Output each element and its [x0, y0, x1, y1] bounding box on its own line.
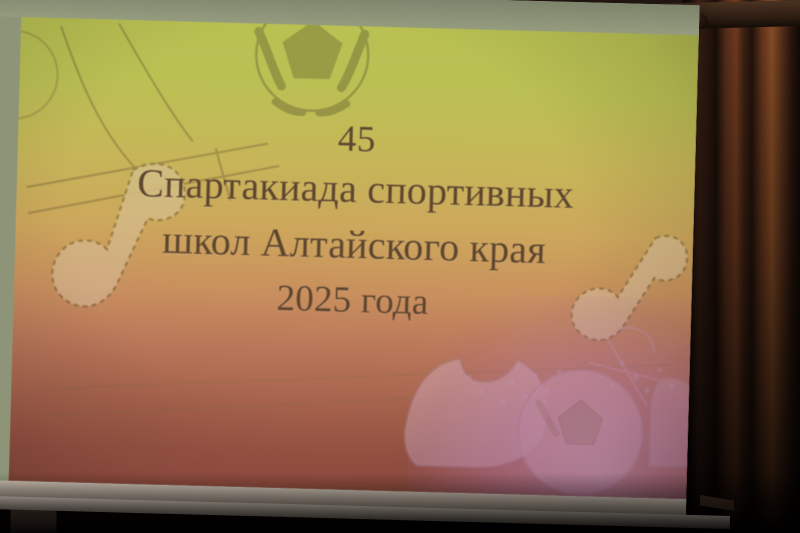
curtain-shadow: [682, 0, 800, 533]
projection-screen: 45 Спартакиада спортивных школ Алтайског…: [0, 0, 700, 525]
floor-line-icon: [31, 347, 672, 406]
soccer-ball-bottom-icon: [516, 369, 643, 496]
photo-scene: 45 Спартакиада спортивных школ Алтайског…: [0, 0, 800, 533]
floor-line-icon: [36, 369, 677, 432]
soccer-ball-top-icon: [255, 17, 370, 114]
slide-text-block: 45 Спартакиада спортивных школ Алтайског…: [13, 111, 696, 337]
shuttlecock-icon: [587, 327, 661, 407]
projected-slide: 45 Спартакиада спортивных школ Алтайског…: [9, 17, 699, 499]
sneaker-bottom-icon: [404, 357, 549, 469]
